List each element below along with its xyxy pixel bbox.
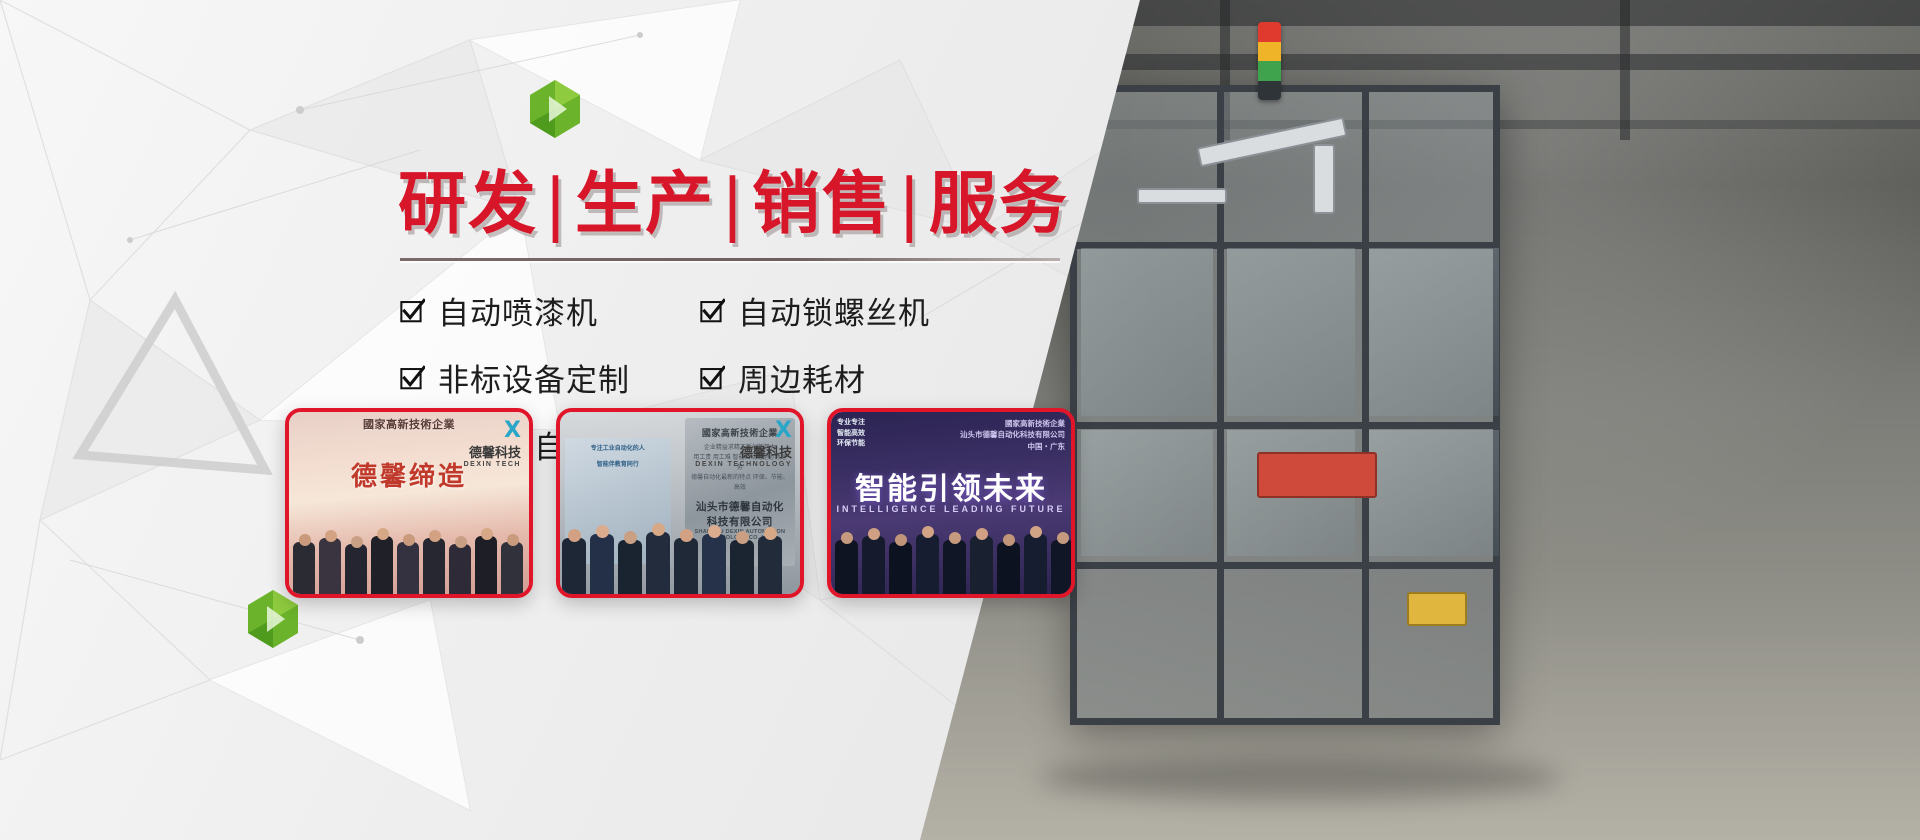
dexin-logo: X 德馨科技 DEXIN TECHNOLOGY bbox=[695, 420, 792, 468]
feature-item-consumables: 周边耗材 bbox=[700, 355, 866, 400]
feature-label: 自动锁螺丝机 bbox=[738, 288, 930, 333]
stage-right-tags: 國家高新技術企業 汕头市德馨自动化科技有限公司 中国・广东 bbox=[960, 418, 1065, 452]
page-title: 研发|生产|销售|服务 bbox=[398, 148, 1069, 247]
status-light-tower bbox=[1258, 22, 1281, 100]
screen-text-2: 智能伴教育同行 bbox=[565, 454, 671, 470]
stage-left-tags: 专业专注 智能高效 环保节能 bbox=[837, 418, 865, 450]
stage-tag-right-3: 中国・广东 bbox=[960, 441, 1065, 452]
feature-row: 自动喷漆机 自动锁螺丝机 bbox=[400, 288, 1060, 333]
checkbox-checked-icon bbox=[400, 298, 425, 323]
feature-item-auto-paint: 自动喷漆机 bbox=[400, 288, 700, 333]
photo-thumbnail-strip: 國家高新技術企業 X 德馨科技 DEXIN TECH 德馨缔造 bbox=[285, 408, 1075, 598]
stage-headline-en: INTELLIGENCE LEADING FUTURE bbox=[831, 504, 1071, 514]
people-group bbox=[289, 516, 529, 594]
headline-part-2: 生产 bbox=[575, 165, 715, 244]
feature-item-auto-screw: 自动锁螺丝机 bbox=[700, 288, 930, 333]
dexin-logo-cn: 德馨科技 bbox=[695, 442, 792, 461]
content-column: 研发|生产|销售|服务 自动喷漆机 bbox=[0, 0, 1100, 840]
headline-part-4: 服务 bbox=[929, 165, 1069, 244]
stage-tag-right-1: 國家高新技術企業 bbox=[960, 418, 1065, 429]
thumbnail-exhibition-stage[interactable]: 专业专注 智能高效 环保节能 國家高新技術企業 汕头市德馨自动化科技有限公司 中… bbox=[827, 408, 1075, 598]
feature-label: 非标设备定制 bbox=[438, 355, 630, 400]
thumbnail-award-ceremony[interactable]: 國家高新技術企業 X 德馨科技 DEXIN TECH 德馨缔造 bbox=[285, 408, 533, 598]
screen-text-1: 专注工业自动化的人 bbox=[565, 438, 671, 454]
headline-separator-3: | bbox=[892, 165, 929, 244]
headline-part-3: 销售 bbox=[752, 165, 892, 244]
dexin-logo-mark: X bbox=[464, 420, 521, 442]
headline-divider bbox=[400, 258, 1060, 261]
stage-tag-left-2: 智能高效 bbox=[837, 429, 865, 440]
feature-label: 周边耗材 bbox=[738, 355, 866, 400]
feature-label: 自动喷漆机 bbox=[438, 288, 598, 333]
dexin-logo-en: DEXIN TECHNOLOGY bbox=[695, 461, 792, 468]
feature-item-custom-equipment: 非标设备定制 bbox=[400, 355, 700, 400]
checkbox-checked-icon bbox=[700, 365, 725, 390]
feature-row: 非标设备定制 周边耗材 bbox=[400, 355, 1060, 400]
checkbox-checked-icon bbox=[700, 298, 725, 323]
stage-tag-left-3: 环保节能 bbox=[837, 439, 865, 450]
people-group bbox=[831, 516, 1071, 594]
checkbox-checked-icon bbox=[400, 365, 425, 390]
stage-tag-right-2: 汕头市德馨自动化科技有限公司 bbox=[960, 429, 1065, 440]
stage-tag-left-1: 专业专注 bbox=[837, 418, 865, 429]
stage-headline-cn: 智能引领未来 bbox=[831, 464, 1071, 508]
people-group bbox=[560, 516, 800, 594]
thumb1-brand-script: 德馨缔造 bbox=[289, 456, 529, 493]
headline-separator-2: | bbox=[715, 165, 752, 244]
promo-banner: 研发|生产|销售|服务 自动喷漆机 bbox=[0, 0, 1920, 840]
dexin-logo-mark: X bbox=[695, 420, 792, 442]
plaque-line-3: 德馨自动化最新的特点 环保、节能、高效 bbox=[691, 474, 789, 494]
hex-accent-icon-top bbox=[525, 78, 585, 140]
headline-part-1: 研发 bbox=[398, 165, 538, 244]
thumbnail-office-lobby[interactable]: 专注工业自动化的人 智能伴教育同行 國家高新技術企業 企业精益求精不断创新努力 … bbox=[556, 408, 804, 598]
headline-separator-1: | bbox=[538, 165, 575, 244]
